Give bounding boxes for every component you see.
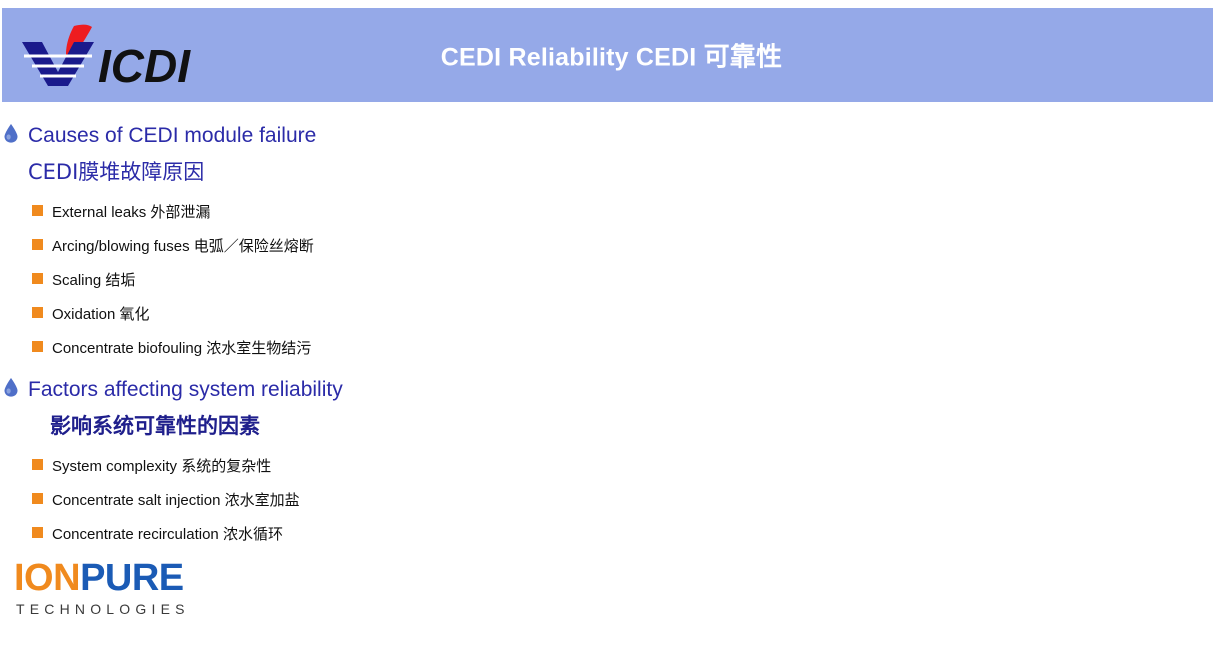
list-item-text: Concentrate recirculation 浓水循环: [52, 523, 283, 544]
section-heading-cn: 影响系统可靠性的因素: [28, 408, 1224, 444]
square-bullet-icon: [32, 239, 43, 250]
list-item[interactable]: Scaling 结垢: [0, 262, 1224, 296]
ionpure-tagline: TECHNOLOGIES: [14, 601, 190, 617]
list-item-text: Concentrate salt injection 浓水室加盐: [52, 489, 300, 510]
page-title-en: CEDI Reliability CEDI: [441, 44, 697, 72]
section-reliability-factors: Factors affecting system reliability 影响系…: [0, 372, 1224, 444]
list-item[interactable]: External leaks 外部泄漏: [0, 194, 1224, 228]
list-item-cn: 系统的复杂性: [181, 457, 271, 475]
slide-content: Causes of CEDI module failure CEDI膜堆故障原因…: [0, 118, 1224, 550]
page-title-cn: 可靠性: [704, 43, 783, 73]
list-item-cn: 结垢: [105, 271, 135, 289]
section-heading-en: Causes of CEDI module failure: [28, 118, 1224, 154]
water-drop-icon: [3, 123, 19, 143]
list-item-en: Concentrate salt injection: [52, 492, 220, 509]
list-item-cn: 电弧／保险丝熔断: [194, 237, 314, 255]
water-drop-icon: [3, 377, 19, 397]
section-heading-cn: CEDI膜堆故障原因: [28, 154, 1224, 190]
square-bullet-icon: [32, 527, 43, 538]
causes-item-list: External leaks 外部泄漏 Arcing/blowing fuses…: [0, 194, 1224, 364]
list-item-en: Concentrate biofouling: [52, 340, 202, 357]
ionpure-wordmark-ion: ION: [14, 557, 80, 599]
list-item-text: Scaling 结垢: [52, 269, 135, 290]
list-item-en: External leaks: [52, 204, 146, 221]
square-bullet-icon: [32, 307, 43, 318]
ionpure-wordmark: IONPURE: [14, 558, 190, 598]
list-item-text: Oxidation 氧化: [52, 303, 150, 324]
section-spacer: [0, 364, 1224, 372]
ionpure-wordmark-pure: PURE: [80, 557, 184, 599]
list-item-text: System complexity 系统的复杂性: [52, 455, 271, 476]
list-item[interactable]: Concentrate recirculation 浓水循环: [0, 516, 1224, 550]
list-item-en: Concentrate recirculation: [52, 526, 219, 543]
list-item-text: Concentrate biofouling 浓水室生物结污: [52, 337, 311, 358]
list-item-cn: 外部泄漏: [150, 203, 210, 221]
slide-header-band: ICDI CEDI Reliability CEDI 可靠性: [2, 8, 1213, 102]
section-heading-en: Factors affecting system reliability: [28, 372, 1224, 408]
list-item-en: Scaling: [52, 272, 101, 289]
list-item-cn: 浓水循环: [223, 525, 283, 543]
list-item[interactable]: Oxidation 氧化: [0, 296, 1224, 330]
list-item-en: Arcing/blowing fuses: [52, 238, 190, 255]
square-bullet-icon: [32, 493, 43, 504]
square-bullet-icon: [32, 205, 43, 216]
list-item-text: External leaks 外部泄漏: [52, 201, 210, 222]
list-item[interactable]: Concentrate salt injection 浓水室加盐: [0, 482, 1224, 516]
square-bullet-icon: [32, 273, 43, 284]
list-item[interactable]: Concentrate biofouling 浓水室生物结污: [0, 330, 1224, 364]
square-bullet-icon: [32, 341, 43, 352]
list-item-cn: 浓水室加盐: [225, 491, 300, 509]
square-bullet-icon: [32, 459, 43, 470]
list-item-cn: 氧化: [120, 305, 150, 323]
factors-item-list: System complexity 系统的复杂性 Concentrate sal…: [0, 448, 1224, 550]
list-item[interactable]: System complexity 系统的复杂性: [0, 448, 1224, 482]
list-item-en: System complexity: [52, 458, 177, 475]
list-item-text: Arcing/blowing fuses 电弧／保险丝熔断: [52, 235, 314, 256]
section-causes-of-failure: Causes of CEDI module failure CEDI膜堆故障原因: [0, 118, 1224, 190]
ionpure-logo: IONPURE TECHNOLOGIES: [14, 558, 190, 617]
list-item-en: Oxidation: [52, 306, 115, 323]
page-title: CEDI Reliability CEDI 可靠性: [2, 37, 1213, 74]
list-item-cn: 浓水室生物结污: [206, 339, 311, 357]
list-item[interactable]: Arcing/blowing fuses 电弧／保险丝熔断: [0, 228, 1224, 262]
